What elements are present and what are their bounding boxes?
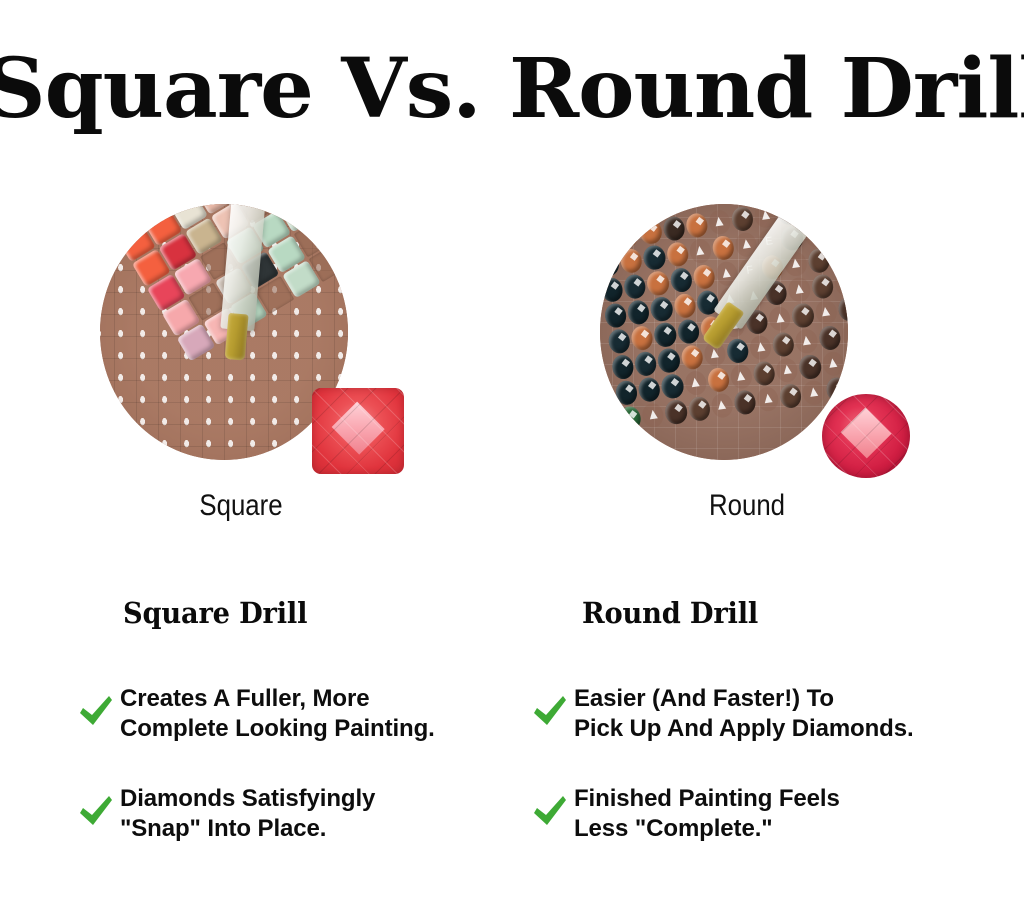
benefit-text: Creates A Fuller, More Complete Looking …	[120, 684, 435, 744]
round-drill-photo: E F	[600, 204, 848, 460]
benefits-list-round: Easier (And Faster!) To Pick Up And Appl…	[512, 684, 1024, 884]
square-gem-icon	[312, 388, 404, 474]
square-drill-photo	[100, 204, 348, 460]
benefit-item: Diamonds Satisfyingly "Snap" Into Place.	[0, 784, 512, 846]
benefit-item: Easier (And Faster!) To Pick Up And Appl…	[512, 684, 1024, 746]
round-drill-photo-wrap: E F	[590, 196, 920, 496]
benefits-heading-round: Round Drill	[582, 596, 758, 630]
check-icon	[78, 794, 114, 830]
comparison-column-round: E F	[512, 196, 1024, 496]
caption-square: Square	[99, 488, 383, 524]
check-icon	[532, 794, 568, 830]
comparison-row: Square	[0, 196, 1024, 496]
gem-facet-lines	[312, 388, 404, 474]
benefits-heading-square: Square Drill	[123, 596, 307, 630]
benefit-item: Creates A Fuller, More Complete Looking …	[0, 684, 512, 746]
benefit-text: Finished Painting Feels Less "Complete."	[574, 784, 840, 844]
square-drill-photo-wrap	[90, 196, 420, 496]
benefit-item: Finished Painting Feels Less "Complete."	[512, 784, 1024, 846]
caption-round: Round	[605, 488, 889, 524]
comparison-column-square: Square	[0, 196, 512, 496]
check-icon	[78, 694, 114, 730]
round-gem-icon	[822, 394, 910, 478]
pen-tip	[225, 313, 248, 360]
gem-facet-lines	[822, 394, 910, 478]
benefits-list-square: Creates A Fuller, More Complete Looking …	[0, 684, 512, 884]
benefit-text: Easier (And Faster!) To Pick Up And Appl…	[574, 684, 914, 744]
benefits-section: Square Drill Creates A Fuller, More Comp…	[0, 596, 1024, 896]
benefit-text: Diamonds Satisfyingly "Snap" Into Place.	[120, 784, 375, 844]
check-icon	[532, 694, 568, 730]
page-title: Square Vs. Round Drill	[0, 44, 1024, 134]
